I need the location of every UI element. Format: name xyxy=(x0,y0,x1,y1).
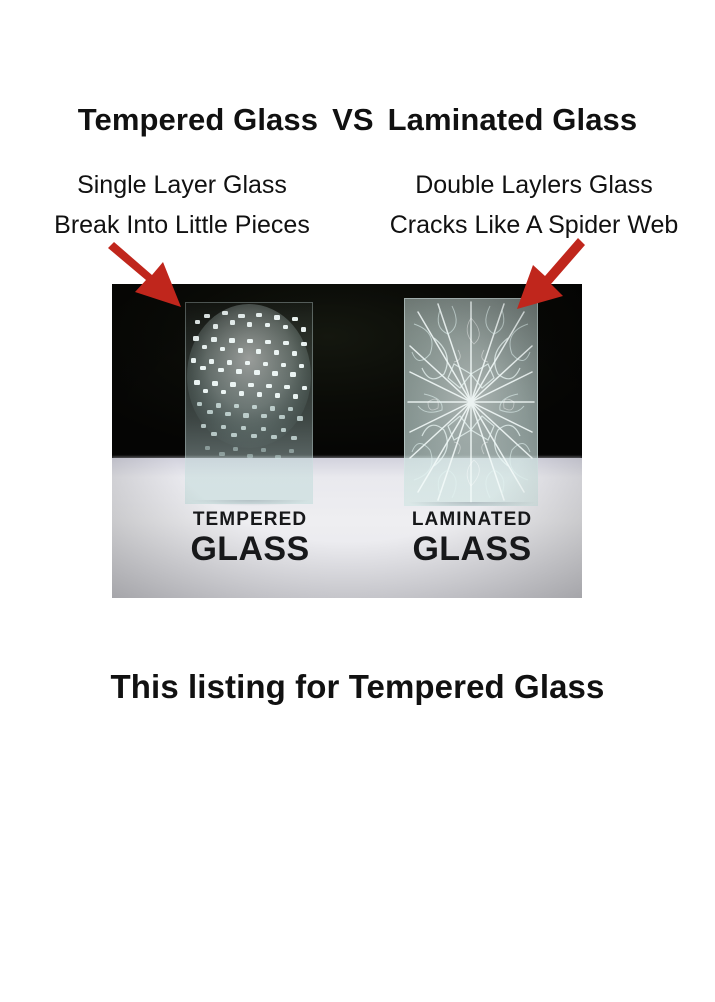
page-title: Tempered GlassVSLaminated Glass xyxy=(0,103,715,137)
photo-label-laminated-main: GLASS xyxy=(384,532,560,566)
photo-label-laminated-top: LAMINATED xyxy=(384,510,560,529)
footer-note: This listing for Tempered Glass xyxy=(0,668,715,706)
tempered-fragments-icon xyxy=(185,302,313,504)
spider-web-cracks-icon xyxy=(404,298,538,506)
comparison-infographic: Tempered GlassVSLaminated Glass Single L… xyxy=(0,0,715,1002)
caption-laminated-line1: Double Laylers Glass xyxy=(358,165,710,205)
photo-label-tempered-main: GLASS xyxy=(170,532,330,566)
caption-laminated: Double Laylers Glass Cracks Like A Spide… xyxy=(358,165,710,245)
headline-right-term: Laminated Glass xyxy=(388,102,638,137)
caption-tempered: Single Layer Glass Break Into Little Pie… xyxy=(8,165,356,245)
caption-tempered-line1: Single Layer Glass xyxy=(8,165,356,205)
photo-label-tempered-top: TEMPERED xyxy=(170,510,330,529)
tempered-glass-panel xyxy=(185,302,313,504)
headline-vs-separator: VS xyxy=(318,102,388,137)
photo-label-laminated: LAMINATED GLASS xyxy=(384,510,560,566)
caption-tempered-line2: Break Into Little Pieces xyxy=(8,205,356,245)
comparison-photo: TEMPERED GLASS LAMINATED GLASS xyxy=(112,284,582,598)
caption-laminated-line2: Cracks Like A Spider Web xyxy=(358,205,710,245)
caption-row: Single Layer Glass Break Into Little Pie… xyxy=(0,165,715,243)
photo-label-tempered: TEMPERED GLASS xyxy=(170,510,330,566)
headline-left-term: Tempered Glass xyxy=(78,102,318,137)
laminated-glass-panel xyxy=(404,298,538,506)
